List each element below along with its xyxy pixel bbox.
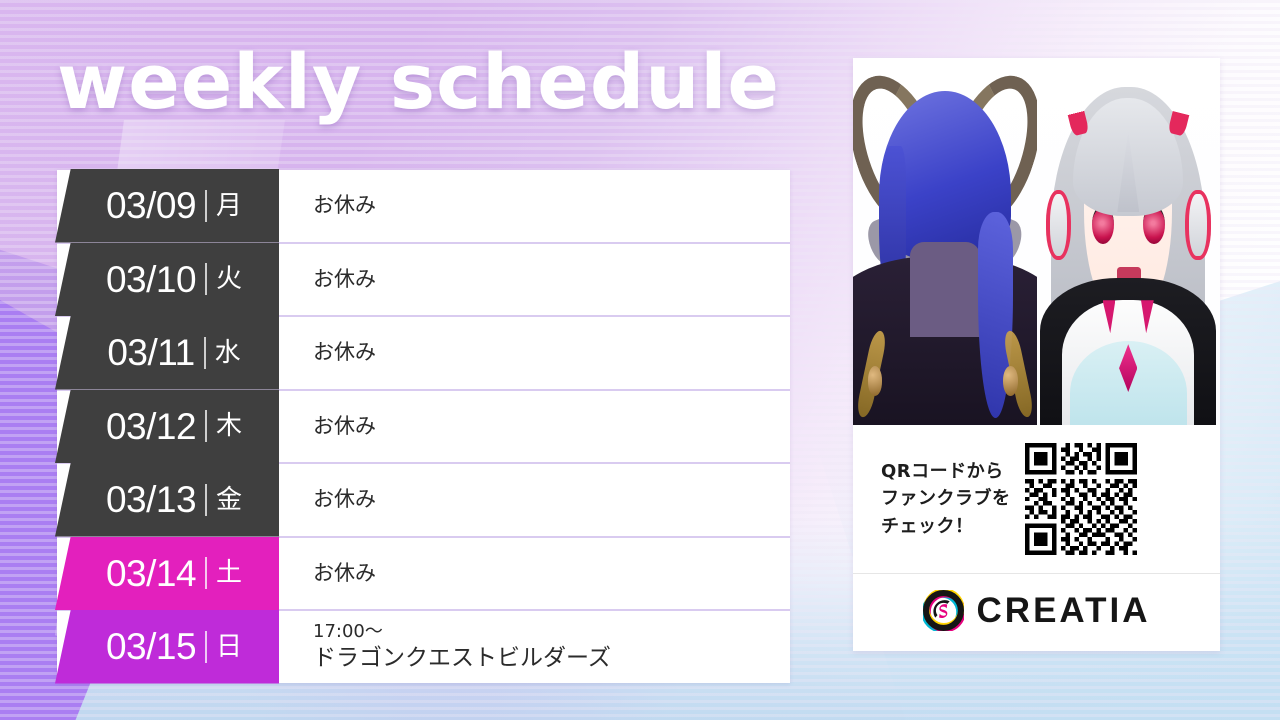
schedule-text-primary: お休み — [313, 339, 376, 366]
schedule-text-primary: お休み — [313, 266, 376, 293]
schedule-row[interactable]: 03/13 金 お休み — [57, 464, 790, 538]
brand-logo: CREATIA — [853, 574, 1220, 651]
schedule-text-primary: お休み — [313, 560, 376, 587]
badge-separator — [205, 631, 207, 663]
schedule-row[interactable]: 03/14 土 お休み — [57, 538, 790, 612]
date-badge: 03/09 月 — [55, 169, 279, 243]
badge-separator — [205, 484, 207, 516]
qr-promo-line-1: QRコードから — [881, 458, 1011, 485]
date-badge: 03/15 日 — [55, 610, 279, 684]
date-badge: 03/14 土 — [55, 537, 279, 611]
date-label: 03/14 — [106, 555, 196, 592]
schedule-table: 03/09 月 お休み 03/10 火 お休み — [57, 170, 790, 683]
date-label: 03/15 — [106, 628, 196, 665]
schedule-content: お休み — [297, 317, 392, 389]
date-label: 03/09 — [106, 187, 196, 224]
schedule-content: お休み — [297, 464, 392, 536]
qr-promo-text: QRコードから ファンクラブを チェック！ — [881, 458, 1011, 540]
schedule-text-primary: お休み — [313, 413, 376, 440]
schedule-content: お休み — [297, 538, 392, 610]
day-of-week-label: 水 — [215, 340, 241, 366]
date-badge: 03/10 火 — [55, 243, 279, 317]
date-badge: 03/11 水 — [55, 316, 279, 390]
badge-separator — [204, 337, 206, 369]
day-of-week-label: 金 — [216, 487, 242, 513]
schedule-text-primary: お休み — [313, 192, 376, 219]
day-of-week-label: 月 — [216, 193, 242, 219]
schedule-content: お休み — [297, 244, 392, 316]
creatia-logo-mark — [923, 590, 964, 631]
weekly-schedule-graphic: weekly schedule 03/09 月 お休み 03/10 — [0, 0, 1280, 720]
brand-name: CREATIA — [977, 593, 1151, 628]
day-of-week-label: 土 — [216, 560, 242, 586]
date-badge: 03/12 木 — [55, 390, 279, 464]
schedule-row[interactable]: 03/11 水 お休み — [57, 317, 790, 391]
vtuber-avatar-demon-girl — [853, 58, 1037, 425]
date-label: 03/13 — [106, 481, 196, 518]
schedule-title: ドラゴンクエストビルダーズ — [313, 644, 611, 674]
badge-separator — [205, 557, 207, 589]
badge-separator — [205, 263, 207, 295]
badge-separator — [205, 410, 207, 442]
badge-separator — [205, 190, 207, 222]
qr-promo-section: QRコードから ファンクラブを チェック！ — [853, 425, 1220, 574]
qr-promo-line-3: チェック！ — [881, 513, 1011, 540]
vtuber-avatar-android-girl — [1037, 58, 1221, 425]
date-label: 03/12 — [106, 408, 196, 445]
day-of-week-label: 日 — [216, 634, 242, 660]
qr-promo-line-2: ファンクラブを — [881, 485, 1011, 512]
schedule-text-primary: お休み — [313, 486, 376, 513]
day-of-week-label: 火 — [216, 266, 242, 292]
schedule-row[interactable]: 03/12 木 お休み — [57, 391, 790, 465]
date-badge: 03/13 金 — [55, 463, 279, 537]
info-panel: QRコードから ファンクラブを チェック！ — [853, 58, 1220, 651]
schedule-row[interactable]: 03/09 月 お休み — [57, 170, 790, 244]
schedule-row[interactable]: 03/10 火 お休み — [57, 244, 790, 318]
page-title: weekly schedule — [57, 44, 780, 120]
avatar-gallery — [853, 58, 1220, 425]
schedule-content: 17:00〜 ドラゴンクエストビルダーズ — [297, 611, 627, 683]
schedule-content: お休み — [297, 170, 392, 242]
schedule-row[interactable]: 03/15 日 17:00〜 ドラゴンクエストビルダーズ — [57, 611, 790, 683]
schedule-content: お休み — [297, 391, 392, 463]
date-label: 03/11 — [107, 334, 194, 371]
qr-code[interactable] — [1025, 443, 1137, 555]
date-label: 03/10 — [106, 261, 196, 298]
day-of-week-label: 木 — [216, 413, 242, 439]
schedule-time: 17:00〜 — [313, 620, 611, 644]
